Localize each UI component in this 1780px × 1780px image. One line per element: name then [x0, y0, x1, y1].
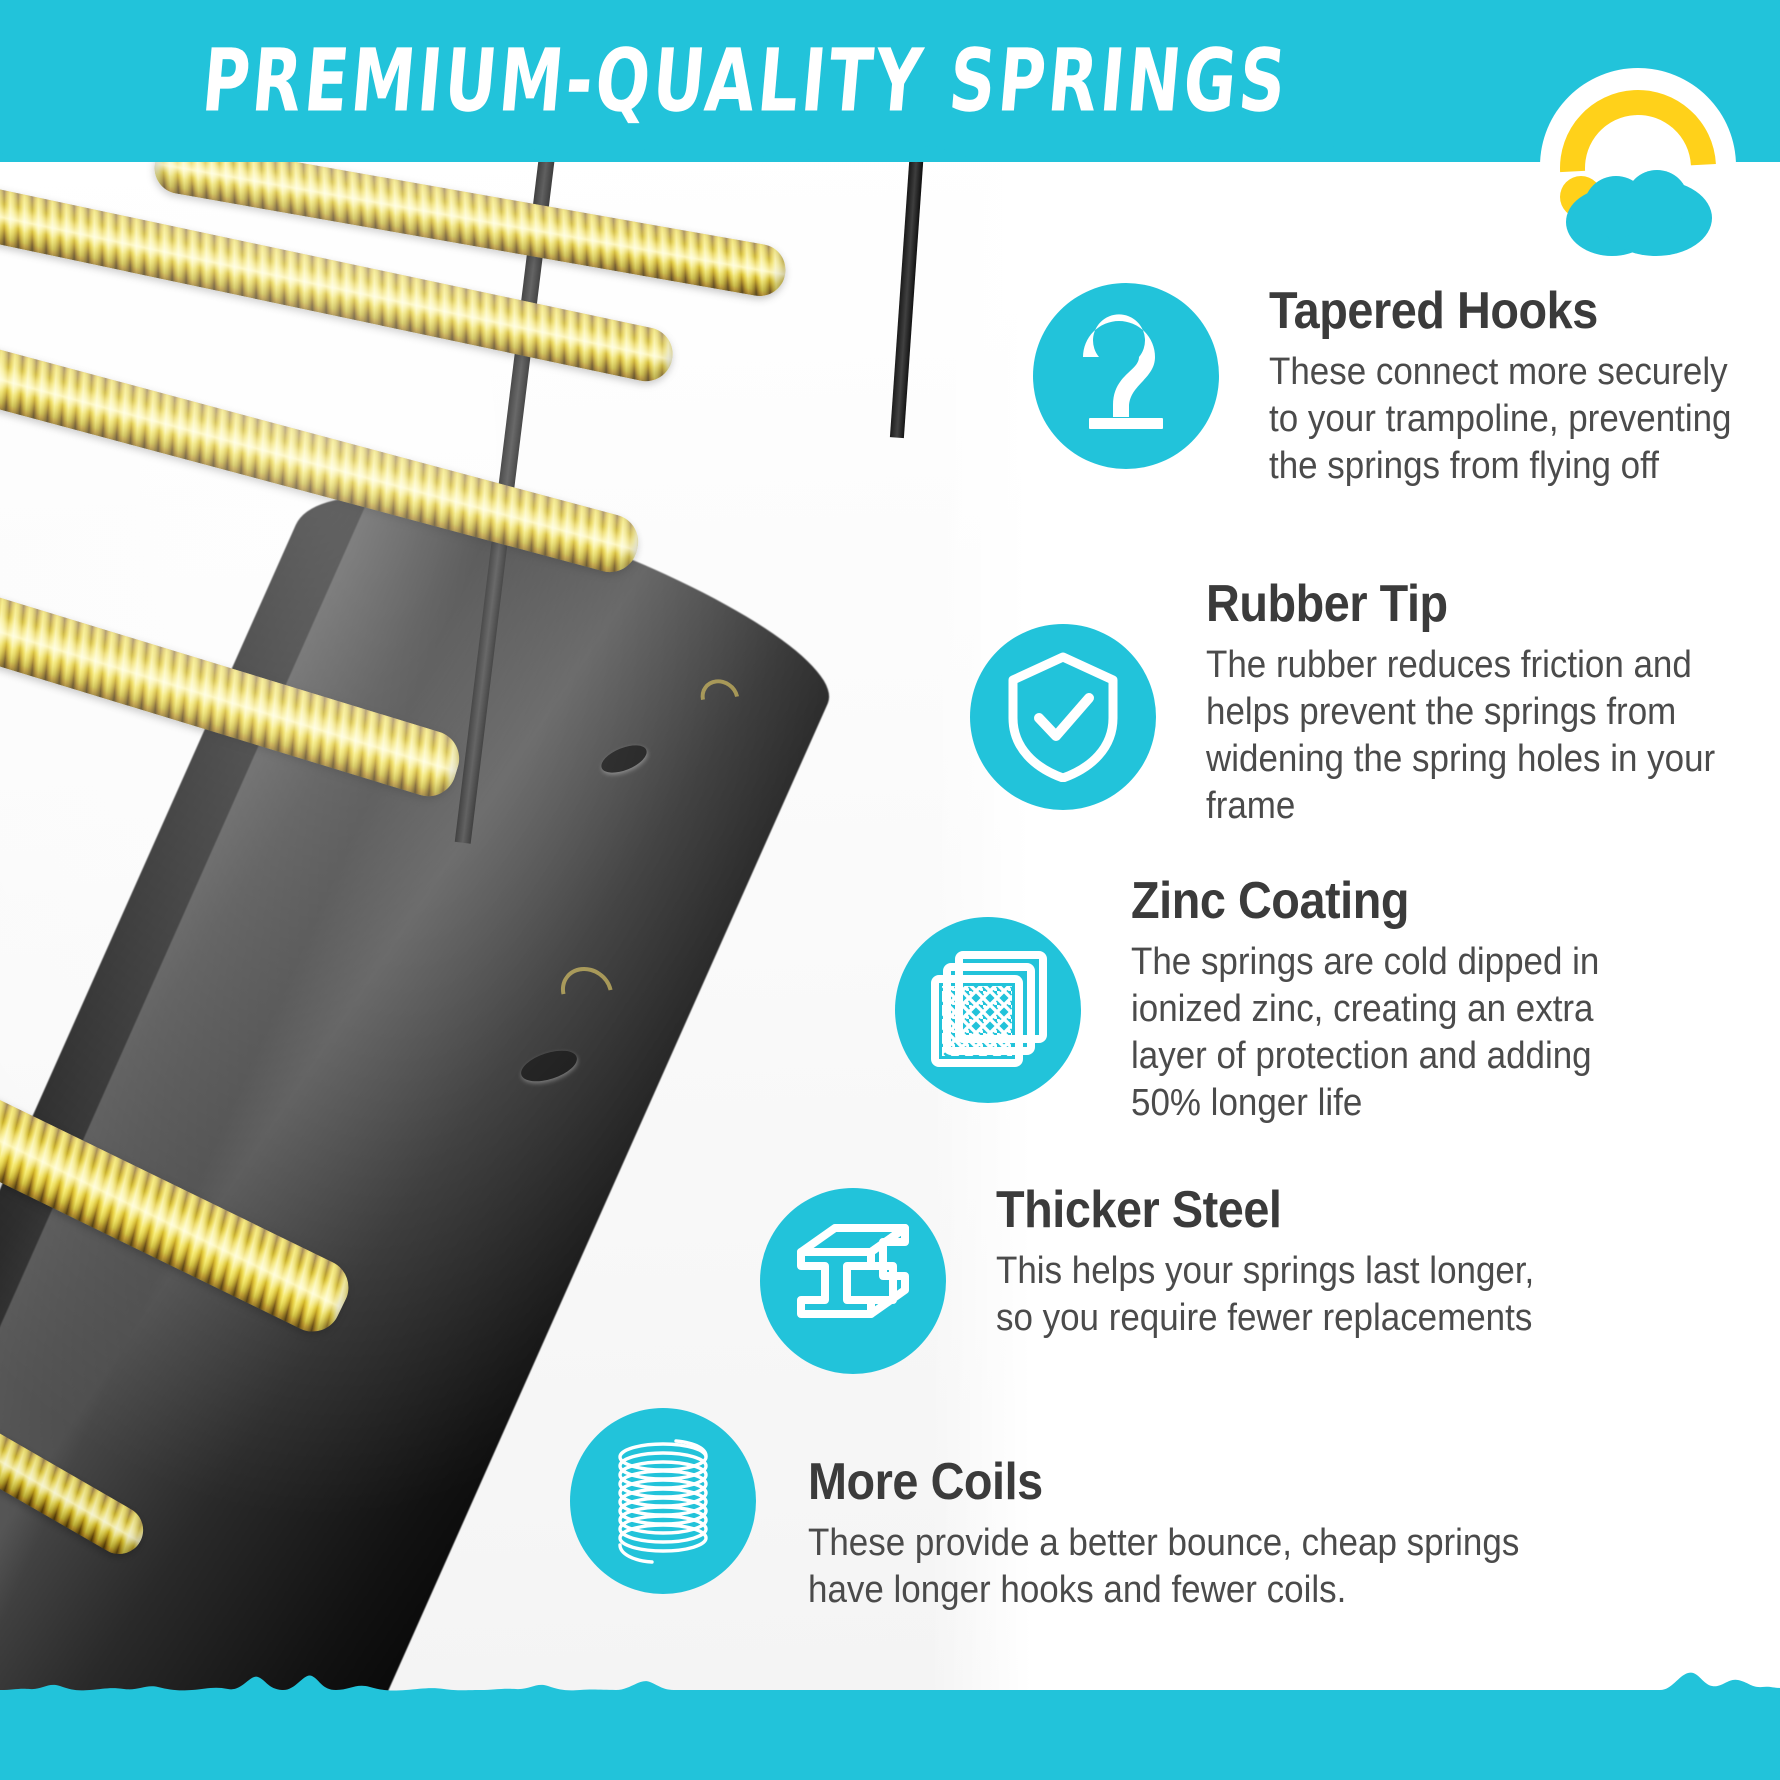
feature-zinc-coating[interactable]: Zinc Coating The springs are cold dipped… [895, 917, 1691, 1127]
sun-cloud-logo [1540, 68, 1736, 264]
logo-cloud-icon [1566, 168, 1712, 256]
coil-spring-icon-glyph [608, 1435, 718, 1567]
hook-icon [1033, 283, 1219, 469]
feature-text-block: Thicker Steel This helps your springs la… [996, 1182, 1616, 1342]
feature-text-block: More Coils These provide a better bounce… [808, 1454, 1588, 1614]
feature-heading: Tapered Hooks [1269, 285, 1755, 338]
feature-body: This helps your springs last longer, so … [996, 1248, 1566, 1342]
feature-text-block: Rubber Tip The rubber reduces friction a… [1206, 576, 1766, 830]
feature-text-block: Zinc Coating The springs are cold dipped… [1131, 873, 1691, 1127]
layered-sheets-icon-glyph [927, 949, 1049, 1071]
feature-heading: Zinc Coating [1131, 875, 1635, 928]
i-beam-icon-glyph [791, 1222, 915, 1340]
page-title: Premium-Quality Springs [0, 30, 1500, 131]
feature-heading: Thicker Steel [996, 1184, 1554, 1237]
i-beam-icon [760, 1188, 946, 1374]
frame-pole-right [890, 148, 924, 438]
feature-body: These connect more securely to your tram… [1269, 349, 1766, 490]
feature-heading: More Coils [808, 1456, 1510, 1509]
layered-sheets-icon [895, 917, 1081, 1103]
coil-spring-icon [570, 1408, 756, 1594]
feature-heading: Rubber Tip [1206, 578, 1710, 631]
feature-rubber-tip[interactable]: Rubber Tip The rubber reduces friction a… [970, 624, 1766, 830]
header-brush-edge [0, 130, 1780, 164]
hook-icon-glyph [1067, 313, 1185, 439]
footer-brush-edge [0, 1668, 1780, 1698]
footer-band [0, 1694, 1780, 1780]
shield-check-icon [970, 624, 1156, 810]
header-band: Premium-Quality Springs [0, 0, 1780, 162]
feature-body: The rubber reduces friction and helps pr… [1206, 642, 1721, 830]
feature-text-block: Tapered Hooks These connect more securel… [1269, 283, 1780, 490]
infographic-canvas: Premium-Quality Springs Tapered Hooks Th… [0, 0, 1780, 1780]
feature-body: These provide a better bounce, cheap spr… [808, 1520, 1526, 1614]
shield-check-icon-glyph [1005, 652, 1121, 782]
feature-thicker-steel[interactable]: Thicker Steel This helps your springs la… [760, 1188, 1616, 1374]
feature-body: The springs are cold dipped in ionized z… [1131, 939, 1646, 1127]
feature-more-coils[interactable]: More Coils These provide a better bounce… [570, 1408, 1588, 1614]
feature-tapered-hooks[interactable]: Tapered Hooks These connect more securel… [1033, 283, 1780, 490]
